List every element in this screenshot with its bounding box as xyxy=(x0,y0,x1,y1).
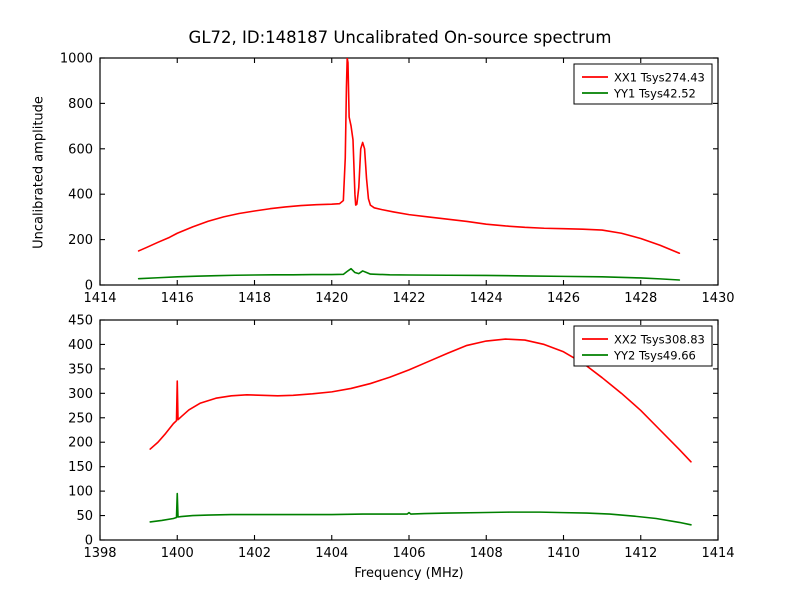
x-tick-label-top-5: 1424 xyxy=(470,291,503,306)
y-tick-label-bottom-8: 400 xyxy=(68,338,93,353)
x-tick-label-bottom-8: 1414 xyxy=(701,546,734,561)
panel-top: 1414141614181420142214241426142814300200… xyxy=(60,52,735,307)
series-line-bottom-1 xyxy=(150,494,691,525)
x-tick-label-top-1: 1416 xyxy=(161,291,194,306)
series-line-top-1 xyxy=(139,269,680,280)
y-tick-label-top-4: 800 xyxy=(68,97,93,112)
x-tick-label-bottom-3: 1404 xyxy=(315,546,348,561)
y-tick-label-top-0: 0 xyxy=(85,279,93,294)
panel-bottom: 1398140014021404140614081410141214140501… xyxy=(68,314,734,562)
x-tick-label-top-3: 1420 xyxy=(315,291,348,306)
y-tick-label-bottom-3: 150 xyxy=(68,460,93,475)
legend-label-bottom-0: XX2 Tsys308.83 xyxy=(614,333,705,347)
y-tick-label-bottom-6: 300 xyxy=(68,387,93,402)
y-tick-label-bottom-7: 350 xyxy=(68,362,93,377)
x-tick-label-bottom-4: 1406 xyxy=(392,546,425,561)
legend-label-top-0: XX1 Tsys274.43 xyxy=(614,71,705,85)
y-tick-label-bottom-9: 450 xyxy=(68,314,93,329)
plot-canvas: 1414141614181420142214241426142814300200… xyxy=(0,0,800,600)
y-tick-label-bottom-1: 50 xyxy=(76,509,93,524)
x-tick-label-bottom-6: 1410 xyxy=(547,546,580,561)
x-tick-label-top-4: 1422 xyxy=(392,291,425,306)
y-tick-label-top-3: 600 xyxy=(68,142,93,157)
spectrum-figure: GL72, ID:148187 Uncalibrated On-source s… xyxy=(0,0,800,600)
legend-bottom: XX2 Tsys308.83YY2 Tsys49.66 xyxy=(574,326,712,366)
y-tick-label-bottom-5: 250 xyxy=(68,411,93,426)
legend-label-bottom-1: YY2 Tsys49.66 xyxy=(613,349,696,363)
x-tick-label-top-2: 1418 xyxy=(238,291,271,306)
x-tick-label-bottom-2: 1402 xyxy=(238,546,271,561)
x-tick-label-top-6: 1426 xyxy=(547,291,580,306)
y-tick-label-top-5: 1000 xyxy=(60,52,93,67)
x-tick-label-top-7: 1428 xyxy=(624,291,657,306)
x-tick-label-bottom-5: 1408 xyxy=(470,546,503,561)
x-tick-label-top-8: 1430 xyxy=(701,291,734,306)
y-tick-label-bottom-0: 0 xyxy=(85,534,93,549)
y-tick-label-top-2: 400 xyxy=(68,188,93,203)
y-tick-label-bottom-4: 200 xyxy=(68,436,93,451)
y-tick-label-bottom-2: 100 xyxy=(68,485,93,500)
legend-label-top-1: YY1 Tsys42.52 xyxy=(613,87,696,101)
x-tick-label-bottom-7: 1412 xyxy=(624,546,657,561)
legend-top: XX1 Tsys274.43YY1 Tsys42.52 xyxy=(574,64,712,104)
x-tick-label-bottom-1: 1400 xyxy=(161,546,194,561)
y-tick-label-top-1: 200 xyxy=(68,233,93,248)
